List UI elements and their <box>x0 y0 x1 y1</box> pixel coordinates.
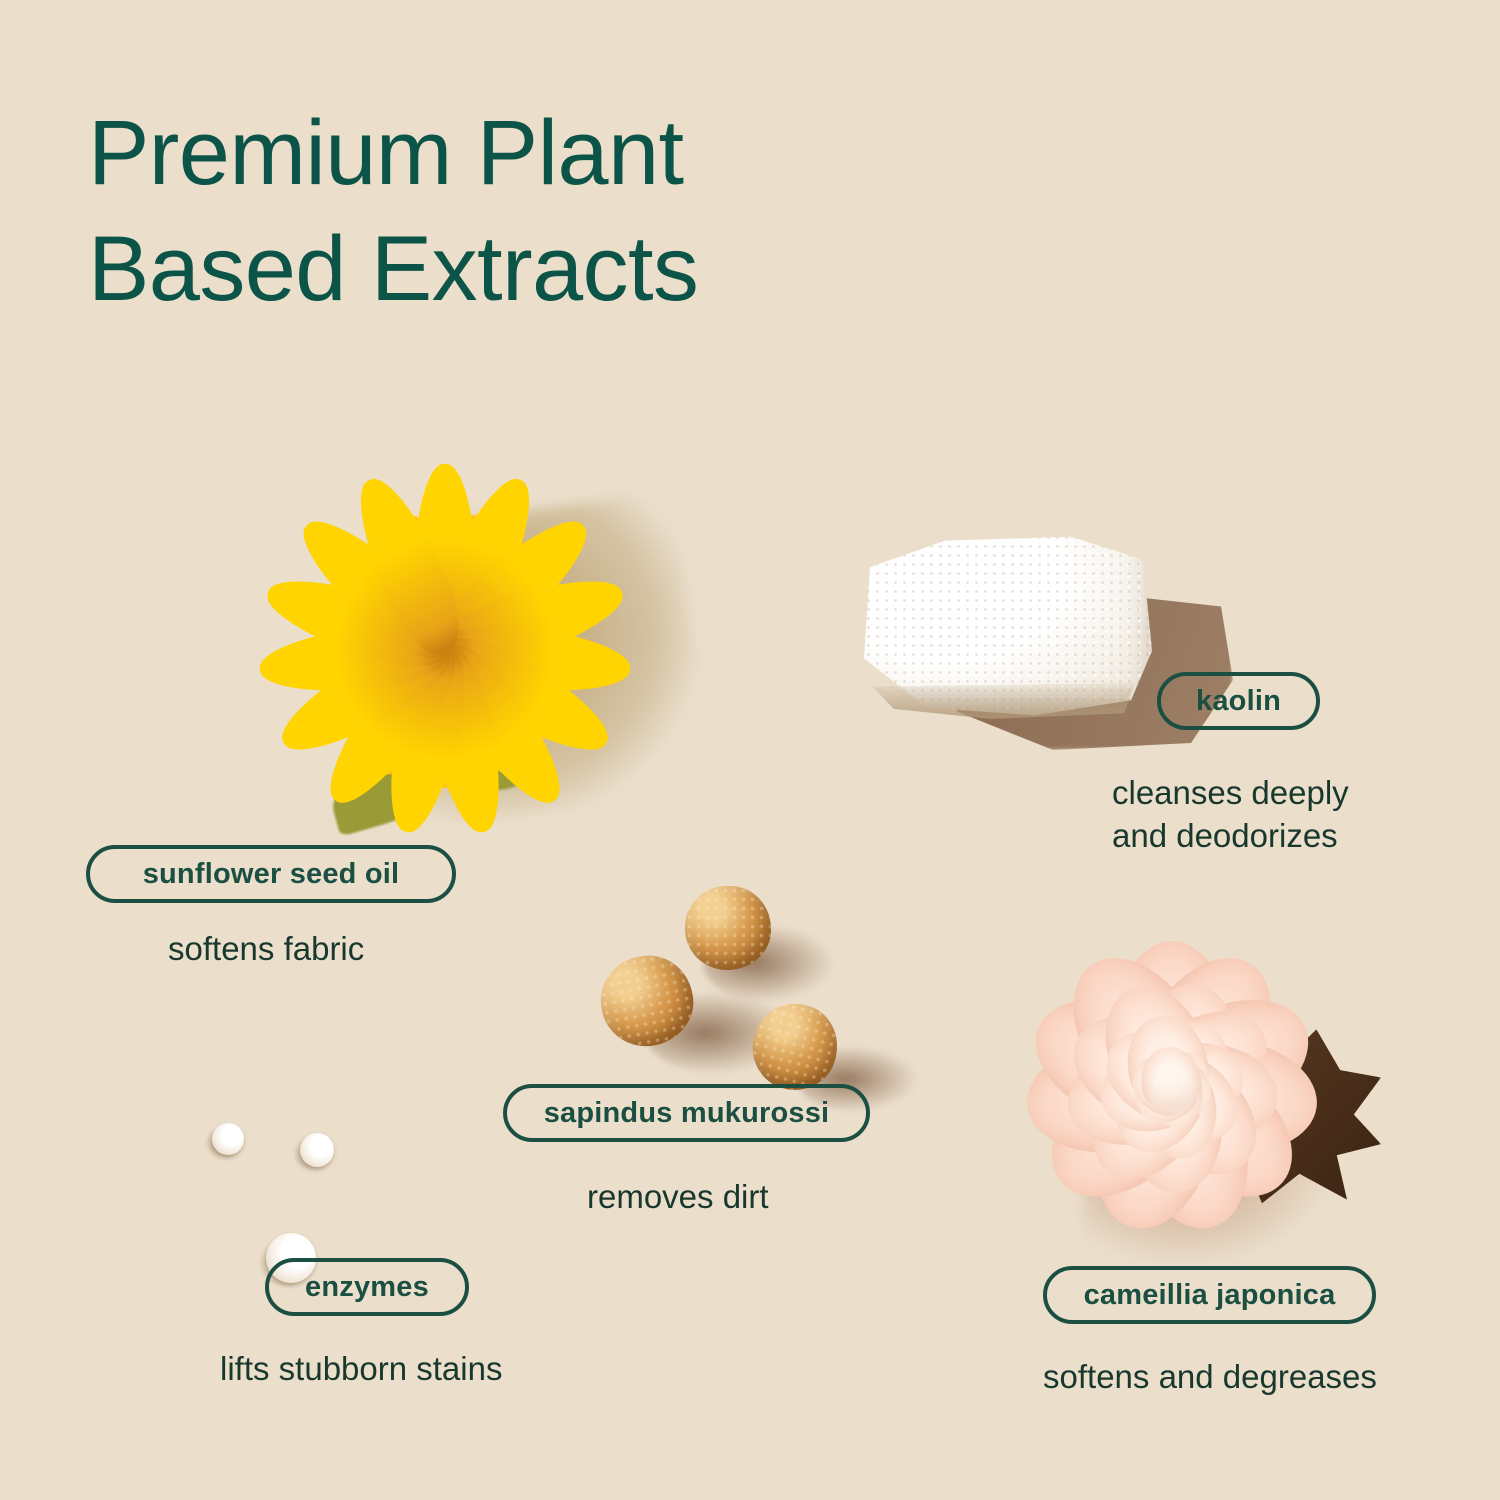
page-title: Premium Plant Based Extracts <box>88 96 988 328</box>
sunflower-photo <box>210 415 680 885</box>
caption-sunflower-seed-oil: softens fabric <box>168 928 588 971</box>
kaolin-rock-grit-edge <box>867 683 1135 719</box>
enzyme-bead <box>300 1133 334 1167</box>
label-pill-enzymes[interactable]: enzymes <box>265 1258 469 1316</box>
caption-cameillia-japonica: softens and degreases <box>1043 1356 1443 1399</box>
soap-nuts-photo <box>585 880 865 1100</box>
camellia-flower-photo <box>975 910 1375 1280</box>
caption-sapindus-mukurossi: removes dirt <box>587 1176 917 1219</box>
label-pill-sunflower-seed-oil[interactable]: sunflower seed oil <box>86 845 456 903</box>
soap-nut <box>685 886 771 970</box>
label-pill-kaolin[interactable]: kaolin <box>1157 672 1320 730</box>
caption-kaolin: cleanses deeply and deodorizes <box>1112 772 1432 858</box>
label-pill-cameillia-japonica[interactable]: cameillia japonica <box>1043 1266 1376 1324</box>
enzyme-bead <box>212 1123 244 1155</box>
caption-enzymes: lifts stubborn stains <box>220 1348 620 1391</box>
label-pill-sapindus-mukurossi[interactable]: sapindus mukurossi <box>503 1084 870 1142</box>
infographic-canvas: Premium Plant Based Extracts <box>0 0 1500 1500</box>
